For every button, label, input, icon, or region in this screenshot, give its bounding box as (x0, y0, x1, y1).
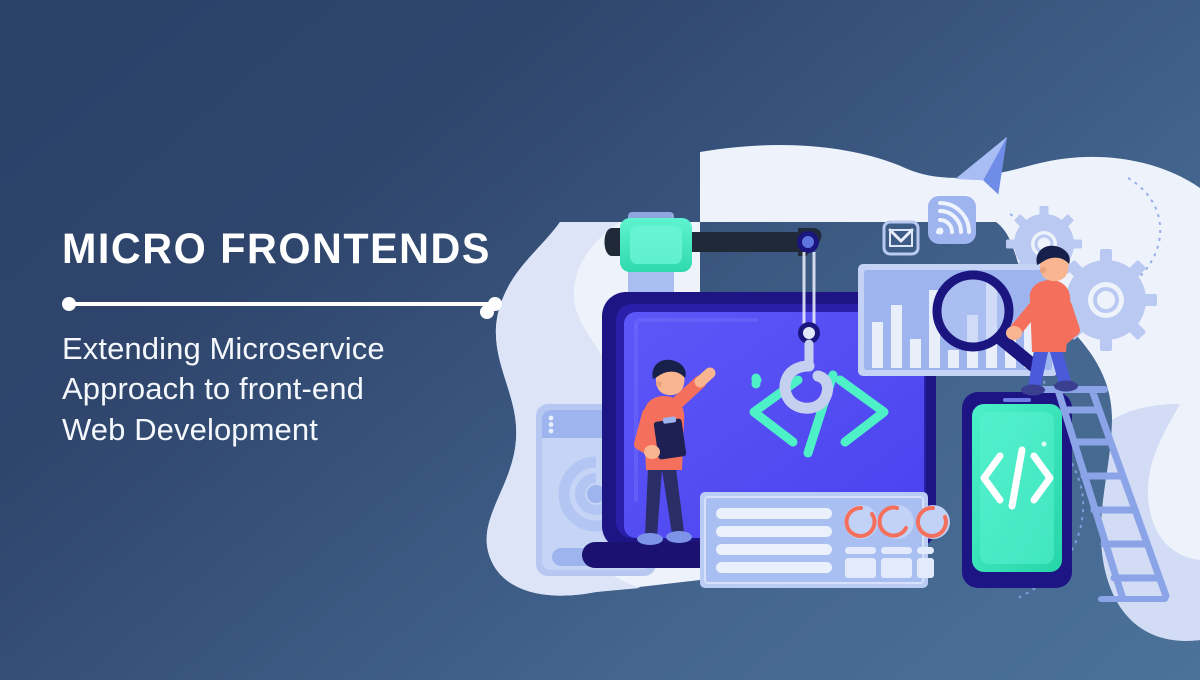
divider-line (68, 302, 496, 306)
dashboard-tiles (845, 547, 934, 578)
page-subtitle: Extending Microservice Approach to front… (62, 329, 532, 450)
subtitle-line-2: Approach to front-end (62, 369, 532, 409)
dashboard-progress-rings (844, 505, 950, 539)
divider-dot-right (488, 297, 502, 311)
subtitle-line-3: Web Development (62, 410, 532, 450)
page-title: MICRO FRONTENDS (62, 228, 513, 271)
subtitle-line-1: Extending Microservice (62, 329, 532, 369)
banner-root: MICRO FRONTENDS Extending Microservice A… (0, 0, 1200, 680)
dashboard-card (700, 492, 950, 588)
mail-icon (884, 222, 918, 254)
title-divider (62, 297, 502, 311)
window-dots-icon (549, 416, 554, 434)
smartphone-device (962, 392, 1072, 588)
headline-block: MICRO FRONTENDS Extending Microservice A… (62, 228, 532, 450)
rss-icon (928, 196, 976, 244)
